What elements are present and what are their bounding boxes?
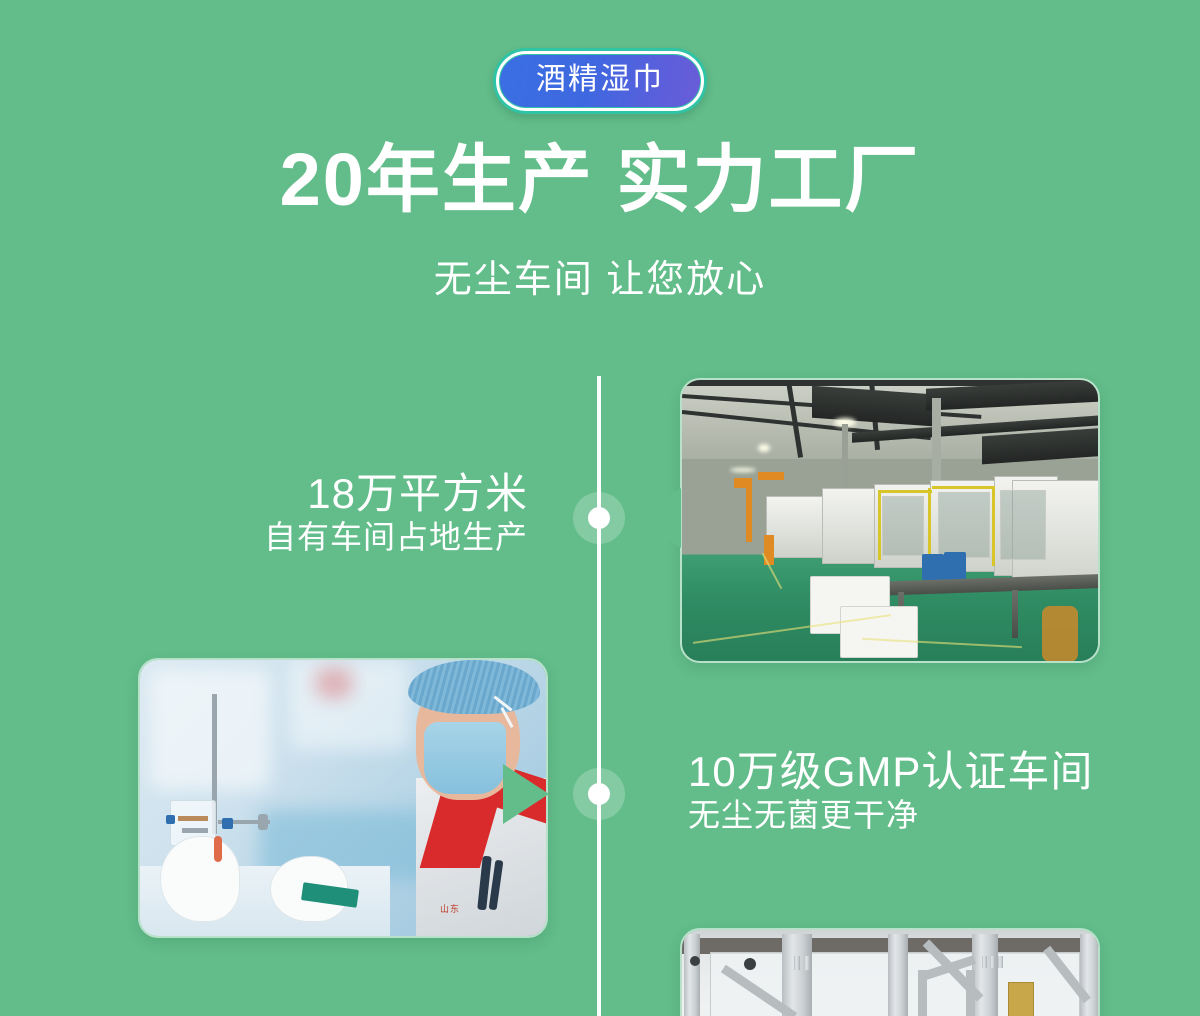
factory-photo-arrow-icon (635, 488, 681, 548)
lab-photo-arrow-icon (503, 764, 549, 824)
cleanroom-photo (680, 928, 1100, 1016)
page-title: 20年生产 实力工厂 (0, 140, 1200, 220)
feature-1-title: 18万平方米 (264, 470, 528, 518)
badge-pill: 酒精湿巾 (500, 55, 700, 107)
badge-label: 酒精湿巾 (536, 65, 664, 95)
badge-container: 酒精湿巾 (0, 48, 1200, 114)
feature-caption-2: 10万级GMP认证车间 无尘无菌更干净 (688, 748, 1093, 835)
timeline-line (597, 376, 601, 1016)
feature-1-subtitle: 自有车间占地生产 (264, 518, 528, 556)
milestone-dot-1-icon (573, 492, 625, 544)
product-detail-banner: 酒精湿巾 20年生产 实力工厂 无尘车间 让您放心 (0, 0, 1200, 1016)
factory-photo (680, 378, 1100, 663)
lab-photo: 山东 (138, 658, 548, 938)
feature-2-title: 10万级GMP认证车间 (688, 748, 1093, 796)
feature-2-subtitle: 无尘无菌更干净 (688, 796, 1093, 834)
page-subtitle: 无尘车间 让您放心 (0, 258, 1200, 304)
feature-caption-1: 18万平方米 自有车间占地生产 (264, 470, 528, 557)
milestone-dot-2-icon (573, 768, 625, 820)
badge-outer-ring: 酒精湿巾 (493, 48, 707, 114)
